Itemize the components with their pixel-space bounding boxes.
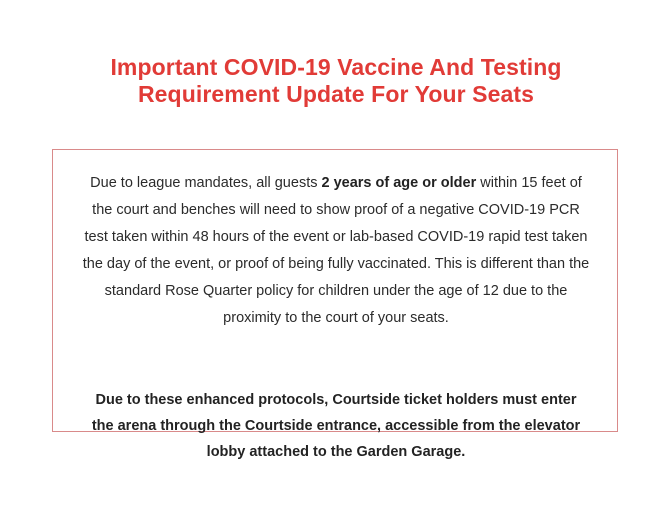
primary-paragraph-emphasis: 2 years of age or older — [322, 175, 477, 191]
notice-box: Due to league mandates, all guests 2 yea… — [52, 149, 618, 432]
primary-paragraph-segment-1: Due to league mandates, all guests — [90, 175, 321, 191]
secondary-paragraph: Due to these enhanced protocols, Courtsi… — [79, 387, 593, 465]
primary-paragraph-segment-2: within 15 feet of the court and benches … — [83, 175, 589, 326]
page-title: Important COVID-19 Vaccine And Testing R… — [0, 54, 672, 108]
primary-paragraph: Due to league mandates, all guests 2 yea… — [79, 170, 593, 332]
notice-body: Due to league mandates, all guests 2 yea… — [79, 170, 593, 465]
page-title-line-2: Requirement Update For Your Seats — [0, 81, 672, 108]
notice-page: Important COVID-19 Vaccine And Testing R… — [0, 0, 672, 510]
page-title-line-1: Important COVID-19 Vaccine And Testing — [0, 54, 672, 81]
